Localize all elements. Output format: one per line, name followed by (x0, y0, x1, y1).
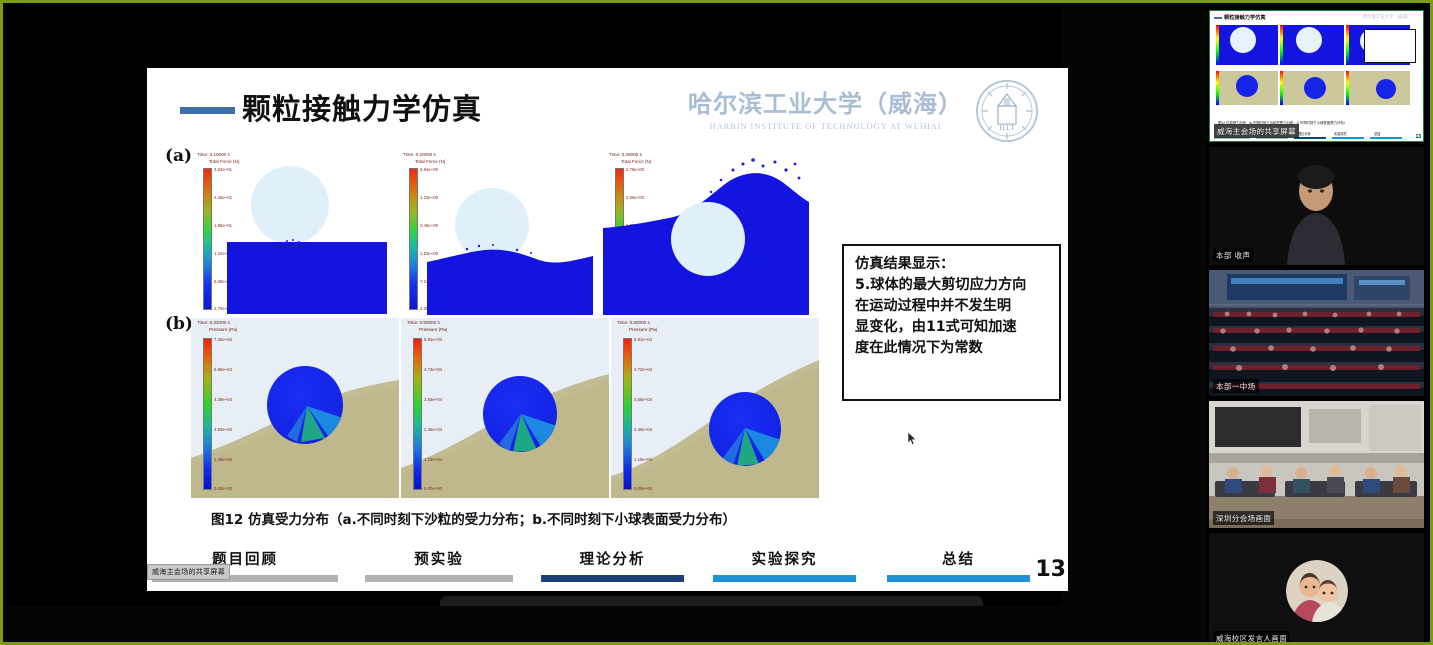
sim-panel-a2-header: Time: 0.20000 s Total Force (N) (403, 152, 445, 165)
mini-sphere-a2 (1296, 27, 1322, 53)
mini-callout (1364, 29, 1416, 63)
sim-panel-a3: Time: 0.30000 s Total Force (N) 2.75e+00… (603, 150, 809, 315)
participant-rail[interactable]: 颗粒接触力学仿真 哈尔滨工业大学（威海） (1206, 6, 1427, 645)
nav-bar-3 (713, 575, 856, 582)
page-number: 13 (1035, 557, 1066, 582)
mini-colorbar-a2 (1280, 25, 1283, 65)
meeting-toolbar[interactable] (440, 596, 983, 606)
sim-panel-b2-header: Time: 0.50000 s Pressure (Pa) (407, 320, 447, 333)
sim-panel-b1-header: Time: 0.32000 s Pressure (Pa) (197, 320, 237, 333)
mini-sphere-b2 (1304, 77, 1326, 99)
shared-screen-thumbnail[interactable]: 颗粒接触力学仿真 哈尔滨工业大学（威海） (1209, 10, 1424, 142)
meeting-window: 颗粒接触力学仿真 哈尔滨工业大学（威海） HARBIN INSTITUTE OF… (0, 0, 1433, 645)
avatar-image (1286, 560, 1348, 622)
tile-label-0: 威海主会场的共享屏幕 (1214, 124, 1299, 138)
sphere-a1 (251, 166, 329, 244)
tile-label-3: 深圳分会场画面 (1213, 511, 1274, 525)
weihai-speaker-tile[interactable]: 威海校区发言人画面 (1209, 533, 1424, 645)
colorbar-b1 (203, 338, 212, 490)
nav-label-4: 总结 (887, 548, 1030, 569)
sim-panel-b2: Time: 0.50000 s Pressure (Pa) 5.91e+04 4… (401, 318, 609, 498)
mini-sphere-b3 (1376, 79, 1396, 99)
mini-university-logo: 哈尔滨工业大学（威海） (1363, 14, 1411, 20)
figure-caption: 图12 仿真受力分布（a.不同时刻下沙粒的受力分布；b.不同时刻下小球表面受力分… (211, 508, 736, 528)
page-title: 颗粒接触力学仿真 (242, 86, 482, 128)
callout-line-5: 度在此情况下为常数 (855, 338, 1051, 359)
nav-label-3: 实验探究 (713, 548, 856, 569)
tile-label-4: 威海校区发言人画面 (1213, 631, 1290, 645)
granular-bed-a1 (227, 242, 387, 314)
stress-wedge-b1 (267, 366, 343, 444)
slide-progress-nav: 题目回顾 预实验 理论分析 实验探究 总结 (147, 541, 1068, 585)
avatar (1286, 560, 1348, 622)
speaker-webcam-tile[interactable]: 本部 收声 (1209, 147, 1424, 265)
callout-line-2: 5.球体的最大剪切应力方向 (855, 275, 1051, 296)
mini-page-number: 13 (1415, 134, 1421, 140)
slide-header: 颗粒接触力学仿真 哈尔滨工业大学（威海） HARBIN INSTITUTE OF… (147, 68, 1068, 134)
classroom-photo (1209, 401, 1424, 528)
mouse-cursor (908, 432, 917, 445)
conclusion-callout: 仿真结果显示： 5.球体的最大剪切应力方向 在运动过程中并不发生明 显变化，由1… (842, 244, 1061, 401)
sim-panel-b3-header: Time: 0.80000 s Pressure (Pa) (617, 320, 657, 333)
shenzhen-venue-tile[interactable]: 深圳分会场画面 (1209, 401, 1424, 528)
shared-screen-stage[interactable]: 颗粒接触力学仿真 哈尔滨工业大学（威海） HARBIN INSTITUTE OF… (6, 6, 1061, 606)
nav-label-1: 预实验 (365, 548, 513, 569)
colorbar-b2 (413, 338, 422, 490)
nav-bar-4 (887, 575, 1030, 582)
colorbar-b3 (623, 338, 632, 490)
mini-colorbar-b2 (1280, 71, 1283, 105)
callout-line-4: 显变化，由11式可知加速 (855, 317, 1051, 338)
main-venue-tile[interactable]: 本部一中场 (1209, 270, 1424, 396)
mini-slide-title: 颗粒接触力学仿真 (1224, 14, 1266, 21)
share-source-label: 威海主会场的共享屏幕 (147, 564, 230, 580)
tile-label-2: 本部一中场 (1213, 379, 1259, 393)
nav-bar-2 (541, 575, 684, 582)
mini-colorbar-b3 (1346, 71, 1349, 105)
mini-colorbar-b1 (1216, 71, 1219, 105)
nav-bar-1 (365, 575, 513, 582)
tile-label-1: 本部 收声 (1213, 248, 1253, 262)
sim-panel-b1: Time: 0.32000 s Pressure (Pa) 7.32e+04 5… (191, 318, 399, 498)
mini-title-dash (1214, 17, 1222, 19)
mini-sphere-b1 (1236, 75, 1258, 97)
nav-label-2: 理论分析 (541, 548, 684, 569)
title-accent-dash (180, 107, 235, 114)
sim-panel-a1-header: Time: 0.10000 s Total Force (N) (197, 152, 239, 165)
row-label-b: (b) (165, 314, 193, 334)
sphere-a3 (671, 202, 745, 276)
auditorium-photo (1209, 270, 1424, 396)
university-name-cn: 哈尔滨工业大学（威海） (688, 84, 963, 119)
granular-bed-a2 (427, 238, 593, 315)
mini-sphere-a1 (1230, 27, 1256, 53)
bed-surface-a1 (227, 236, 387, 252)
avatar-background (1209, 533, 1424, 645)
presentation-slide[interactable]: 颗粒接触力学仿真 哈尔滨工业大学（威海） HARBIN INSTITUTE OF… (147, 68, 1068, 591)
sim-panel-a1: Time: 0.10000 s Total Force (N) 3.04e+01… (191, 150, 387, 315)
mini-slide: 颗粒接触力学仿真 哈尔滨工业大学（威海） (1210, 11, 1423, 141)
sim-panel-b3: Time: 0.80000 s Pressure (Pa) 5.91e+04 4… (611, 318, 819, 498)
university-crest-icon: H.I.T (974, 78, 1040, 144)
colorbar-a2 (409, 168, 418, 310)
row-label-a: (a) (165, 146, 192, 166)
stress-wedge-b2 (483, 376, 557, 452)
callout-line-1: 仿真结果显示： (855, 254, 1051, 275)
colorbar-a1 (203, 168, 212, 310)
university-name-en: HARBIN INSTITUTE OF TECHNOLOGY AT WEIHAI (688, 121, 963, 131)
sim-panel-a2: Time: 0.20000 s Total Force (N) 6.54e+00… (397, 150, 593, 315)
mini-colorbar-a3 (1346, 25, 1349, 65)
university-logo: 哈尔滨工业大学（威海） HARBIN INSTITUTE OF TECHNOLO… (688, 84, 963, 131)
stress-wedge-b3 (709, 392, 781, 466)
callout-line-3: 在运动过程中并不发生明 (855, 296, 1051, 317)
svg-text:H.I.T: H.I.T (999, 124, 1015, 132)
mini-colorbar-a1 (1216, 25, 1219, 65)
